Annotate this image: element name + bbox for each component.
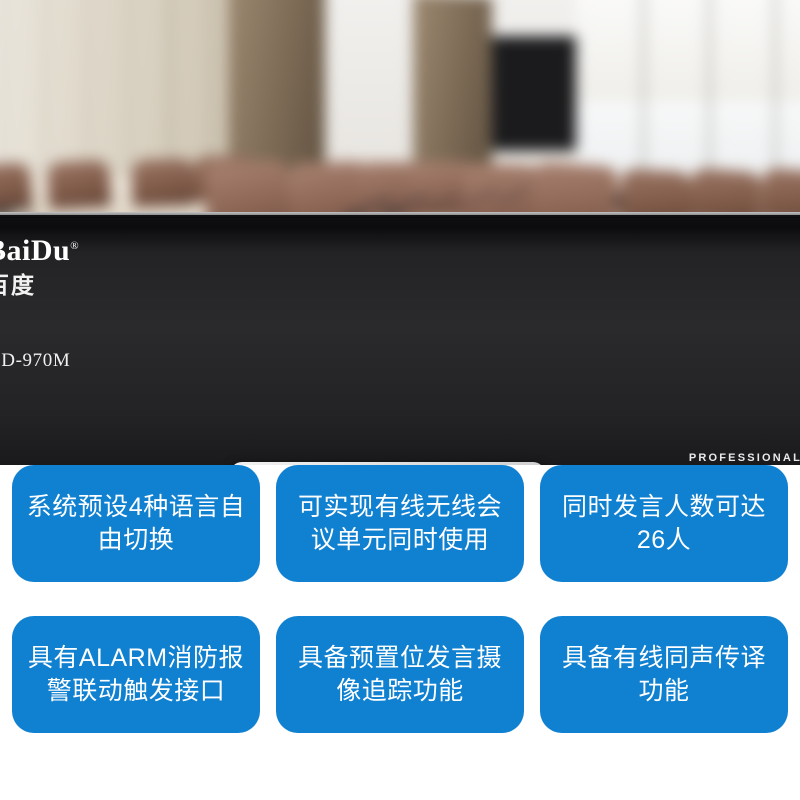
feature-card-text: 具有ALARM消防报警联动触发接口 xyxy=(26,642,246,708)
band-divider xyxy=(0,212,800,215)
feature-card[interactable]: 同时发言人数可达26人 xyxy=(540,465,788,582)
chair xyxy=(759,167,800,212)
professional-label: PROFESSIONAL xyxy=(689,452,800,464)
device-model-number: BD-970M xyxy=(0,350,70,372)
feature-card-text: 具备预置位发言摄像追踪功能 xyxy=(290,642,510,708)
feature-card[interactable]: 系统预设4种语言自由切换 xyxy=(12,465,260,582)
brand-latin-name: BaiDu® xyxy=(0,236,79,266)
feature-card-text: 可实现有线无线会议单元同时使用 xyxy=(290,491,510,557)
feature-card-text: 系统预设4种语言自由切换 xyxy=(26,491,246,557)
chair xyxy=(131,158,194,207)
feature-card[interactable]: 可实现有线无线会议单元同时使用 xyxy=(276,465,524,582)
registered-trademark-icon: ® xyxy=(70,240,79,252)
chair xyxy=(47,160,111,210)
feature-card-text: 同时发言人数可达26人 xyxy=(554,491,774,557)
chair xyxy=(460,162,543,212)
photo-blur-layer xyxy=(0,0,800,212)
conference-room-photo xyxy=(0,0,800,212)
feature-card-text: 具备有线同声传译功能 xyxy=(554,642,774,708)
features-section: 系统预设4种语言自由切换 可实现有线无线会议单元同时使用 同时发言人数可达26人… xyxy=(0,465,800,800)
feature-card[interactable]: 具备有线同声传译功能 xyxy=(540,616,788,733)
feature-card[interactable]: 具备预置位发言摄像追踪功能 xyxy=(276,616,524,733)
device-showcase-band: BaiDu® 百度 BD-970M PROFESSIONAL 2023/09/1… xyxy=(0,212,800,465)
chair xyxy=(204,159,292,212)
feature-card[interactable]: 具有ALARM消防报警联动触发接口 xyxy=(12,616,260,733)
chair xyxy=(529,162,618,212)
band-divider-shadow xyxy=(0,217,800,218)
brand-chinese-name: 百度 xyxy=(0,274,79,297)
brand-block: BaiDu® 百度 xyxy=(0,236,79,297)
product-promo-page: BaiDu® 百度 BD-970M PROFESSIONAL 2023/09/1… xyxy=(0,0,800,800)
wood-column-right xyxy=(413,0,492,184)
chair xyxy=(688,167,763,212)
brand-latin-text: BaiDu xyxy=(0,234,70,267)
chair xyxy=(618,168,692,212)
feature-card-list: 系统预设4种语言自由切换 可实现有线无线会议单元同时使用 同时发言人数可达26人… xyxy=(0,465,800,733)
